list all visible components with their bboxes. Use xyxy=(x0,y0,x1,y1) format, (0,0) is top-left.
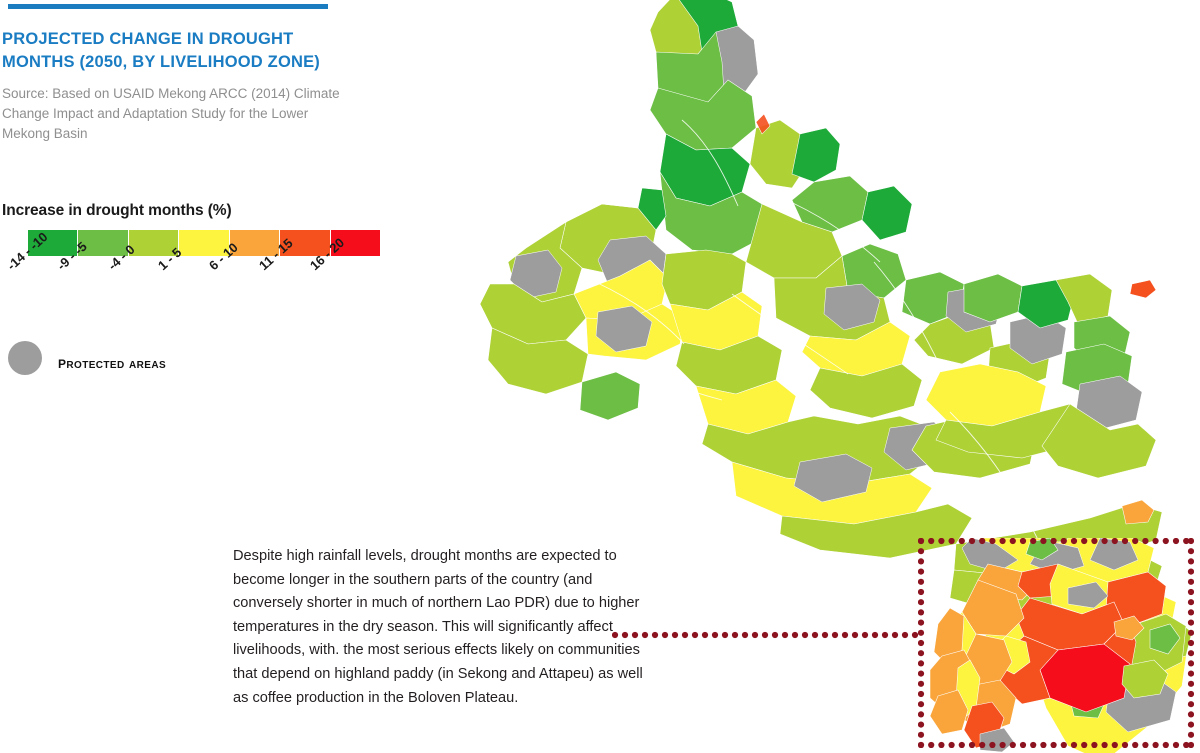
callout-connector-line xyxy=(612,629,924,641)
protected-areas-label: Protected Areas xyxy=(58,353,166,373)
infographic-canvas: Projected change in drought months (2050… xyxy=(0,0,1200,753)
legend-title: Increase in drought months (%) xyxy=(2,202,232,220)
protected-areas-swatch-icon xyxy=(8,341,42,375)
southern-region-detail xyxy=(918,538,1194,753)
source-credit: Source: Based on USAID Mekong ARCC (2014… xyxy=(2,84,352,144)
page-title: Projected change in drought months (2050… xyxy=(2,28,342,74)
header-rule xyxy=(8,4,328,9)
legend-tick-labels: -14 - -10-9 - -5-4 - 01 - 56 - 1011 - 15… xyxy=(0,256,400,336)
